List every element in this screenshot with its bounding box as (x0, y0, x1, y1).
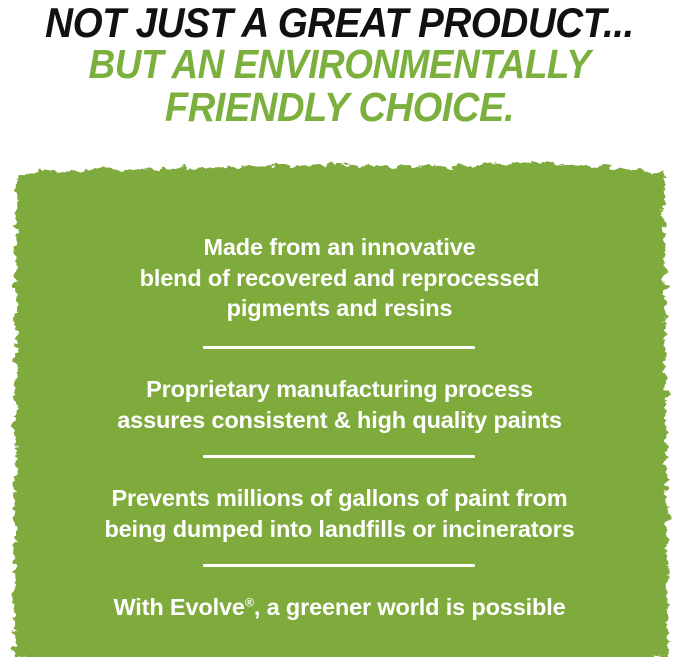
headline-group: NOT JUST A GREAT PRODUCT... BUT AN ENVIR… (0, 0, 679, 150)
divider-2 (203, 455, 475, 458)
feature-3-line-1: Prevents millions of gallons of paint fr… (0, 483, 679, 514)
evolve-brand-text: With Evolve (113, 594, 244, 620)
feature-1-line-1: Made from an innovative (0, 232, 679, 263)
panel-content: Made from an innovative blend of recover… (0, 152, 679, 657)
divider-3 (203, 564, 475, 567)
registered-trademark-icon: ® (245, 596, 254, 610)
headline-line-1: NOT JUST A GREAT PRODUCT... (27, 2, 652, 44)
feature-2-line-1: Proprietary manufacturing process (0, 374, 679, 405)
feature-block-3: Prevents millions of gallons of paint fr… (0, 483, 679, 544)
feature-4-line-1: With Evolve®, a greener world is possibl… (0, 592, 679, 623)
feature-block-1: Made from an innovative blend of recover… (0, 232, 679, 324)
feature-4-tail-text: , a greener world is possible (254, 594, 566, 620)
feature-block-2: Proprietary manufacturing process assure… (0, 374, 679, 435)
feature-1-line-3: pigments and resins (0, 293, 679, 324)
headline-line-2: BUT AN ENVIRONMENTALLY (34, 44, 645, 85)
feature-1-line-2: blend of recovered and reprocessed (0, 263, 679, 294)
divider-1 (203, 346, 475, 349)
headline-line-3: FRIENDLY CHOICE. (24, 87, 655, 128)
feature-block-4: With Evolve®, a greener world is possibl… (0, 592, 679, 623)
feature-3-line-2: being dumped into landfills or incinerat… (0, 514, 679, 545)
feature-2-line-2: assures consistent & high quality paints (0, 405, 679, 436)
